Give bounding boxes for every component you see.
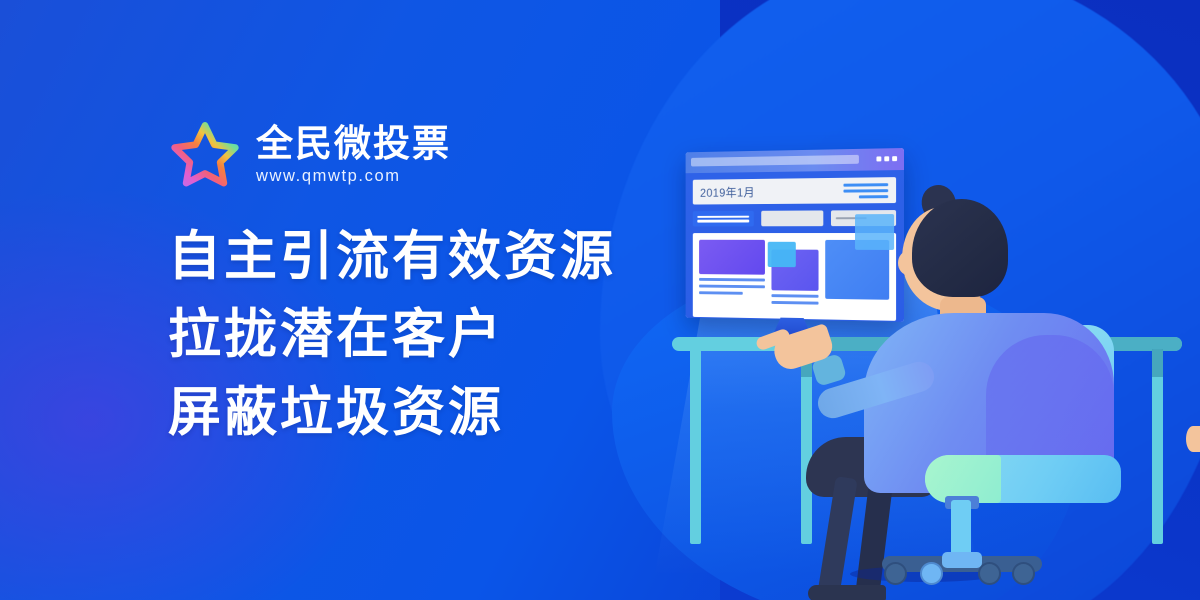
chair-wheel <box>884 562 907 585</box>
headline-line-3: 屏蔽垃圾资源 <box>168 386 616 440</box>
filter-chip-active <box>693 211 754 227</box>
edge-cropped-figure <box>1186 426 1200 452</box>
text-line <box>699 291 742 294</box>
desk-leg-shade <box>1152 349 1163 377</box>
text-line <box>699 285 765 289</box>
chair-wheel <box>1012 562 1035 585</box>
text-line <box>699 278 765 282</box>
brand-name: 全民微投票 <box>256 124 451 164</box>
brand-url: www.qmwtp.com <box>256 167 451 186</box>
chair-hub <box>942 552 982 568</box>
browser-address-bar <box>691 155 859 167</box>
date-value: 2019年1月 <box>700 183 755 200</box>
desk-leg <box>690 349 701 544</box>
shoe <box>808 585 886 600</box>
browser-title-bar <box>686 148 904 173</box>
gradient-star-icon <box>168 118 242 192</box>
headline-line-1: 自主引流有效资源 <box>168 230 616 284</box>
thumbnail-purple <box>699 240 765 275</box>
headline-line-2: 拉拢潜在客户 <box>168 308 616 362</box>
card-column-left <box>699 240 765 312</box>
hair <box>912 199 1008 297</box>
promo-banner: 全民微投票 www.qmwtp.com 自主引流有效资源 拉拢潜在客户 屏蔽垃圾… <box>0 0 1200 600</box>
window-controls-icon <box>876 156 897 161</box>
brand-logo[interactable]: 全民微投票 www.qmwtp.com <box>168 118 451 192</box>
chair-post <box>951 500 971 558</box>
desk-leg <box>1152 349 1163 544</box>
chair-wheel <box>978 562 1001 585</box>
headline-block: 自主引流有效资源 拉拢潜在客户 屏蔽垃圾资源 <box>168 230 616 440</box>
chair-wheel <box>920 562 943 585</box>
